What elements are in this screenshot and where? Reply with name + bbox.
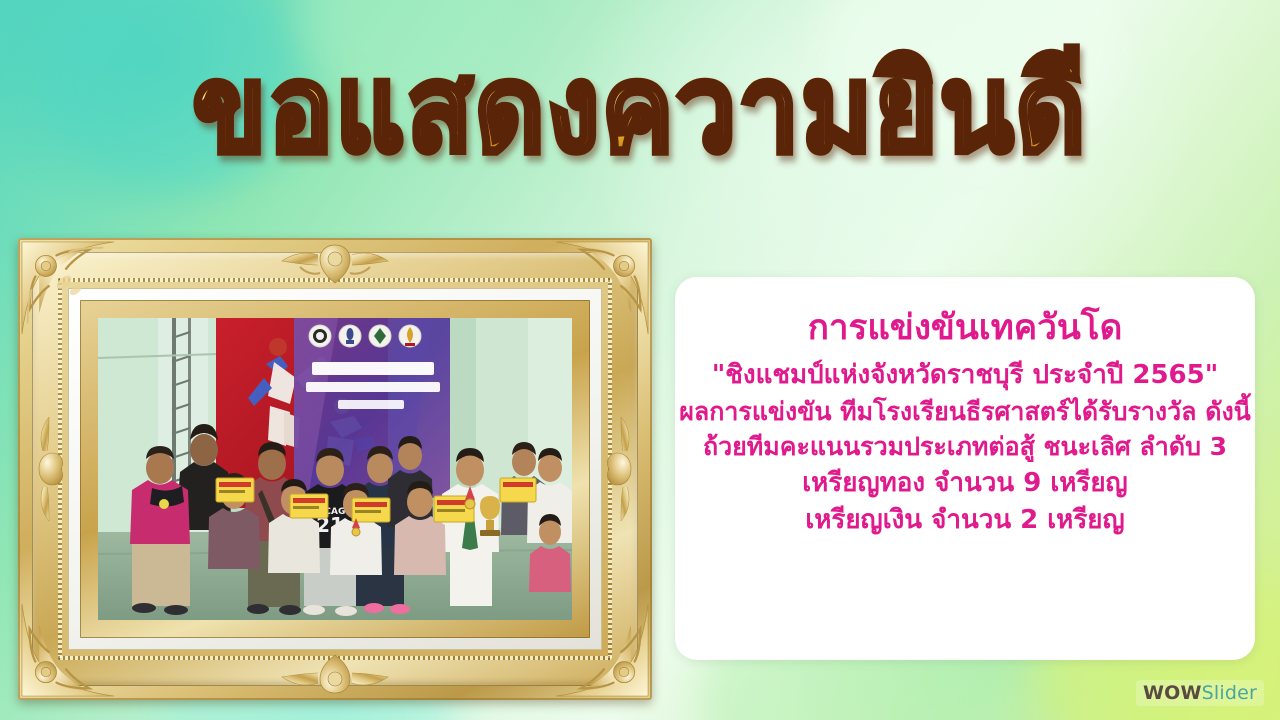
wowslider-watermark: WOWSlider [1136,680,1264,706]
card-line-silver-medals: เหรียญเงิน จำนวน 2 เหรียญ [805,502,1124,539]
photo-frame: CHICAGO 21 [18,238,652,700]
page-title: ขอแสดงความยินดี [0,56,1280,186]
card-line-gold-medals: เหรียญทอง จำนวน 9 เหรียญ [802,465,1127,502]
info-card: การแข่งขันเทควันโด "ชิงแชมป์แห่งจังหวัดร… [675,277,1255,660]
slide-canvas: ขอแสดงความยินดี [0,0,1280,720]
card-title: การแข่งขันเทควันโด [808,307,1123,351]
card-line-trophy: ถ้วยทีมคะแนนรวมประเภทต่อสู้ ชนะเลิศ ลำดั… [703,429,1227,465]
watermark-wow: WOW [1143,682,1202,704]
team-photo: CHICAGO 21 [98,318,572,620]
card-line-subtitle: "ชิงแชมป์แห่งจังหวัดราชบุรี ประจำปี 2565… [712,357,1219,394]
watermark-slider: Slider [1202,682,1257,704]
heading-text: ขอแสดงความยินดี [192,50,1087,171]
card-line-result: ผลการแข่งขัน ทีมโรงเรียนธีรศาสตร์ได้รับร… [679,394,1250,430]
